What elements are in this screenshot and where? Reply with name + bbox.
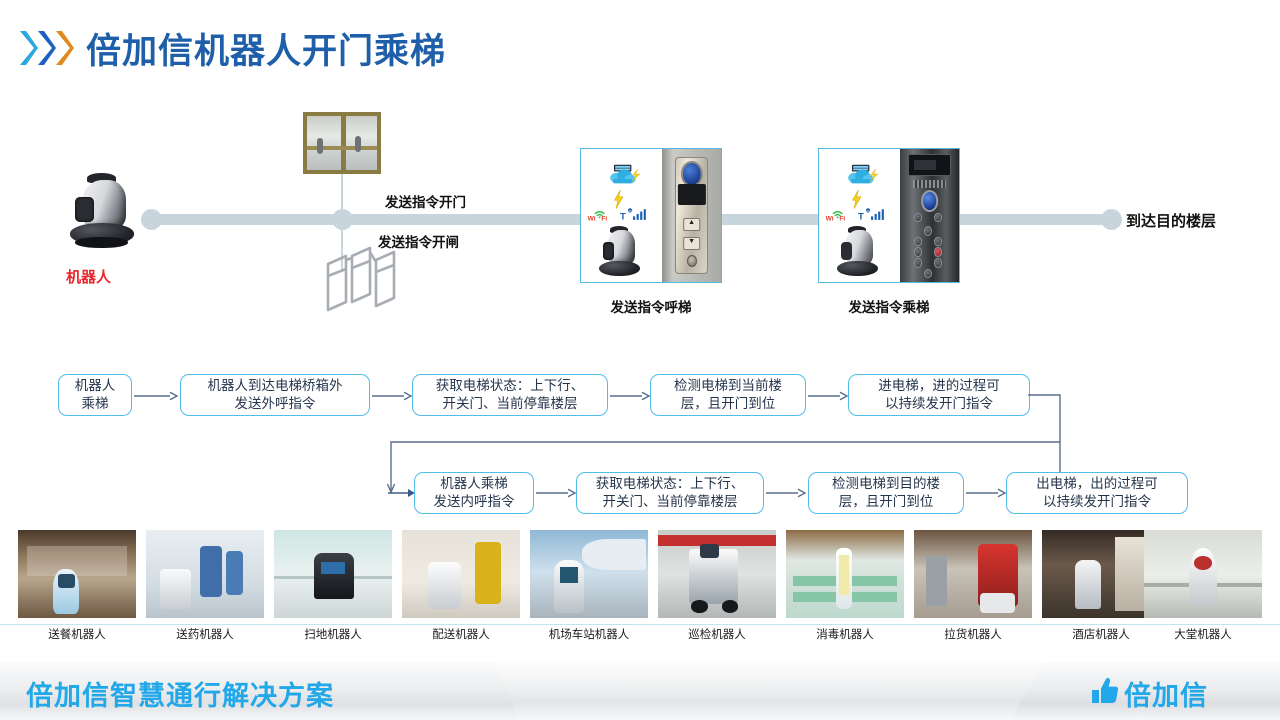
footer-title: 倍加信智慧通行解决方案 — [26, 674, 334, 713]
glass-door-photo — [303, 112, 381, 174]
gallery-label-2: 送药机器人 — [146, 626, 264, 642]
flow-arrow-r1-4 — [808, 390, 848, 402]
mini-robot-icon — [832, 222, 886, 281]
timeline-end-node — [1101, 209, 1122, 230]
svg-text:Fi: Fi — [840, 215, 846, 222]
chevron-icon-2 — [36, 28, 56, 68]
gallery-label-4: 配送机器人 — [402, 626, 520, 642]
flow-row1-box-4: 检测电梯到当前楼 层，且开门到位 — [650, 374, 806, 416]
gallery-thumb-1 — [18, 530, 136, 618]
car-operating-panel-photo — [900, 149, 959, 282]
flow-arrow-r2-3 — [966, 487, 1006, 499]
car-call-caption: 发送指令乘梯 — [818, 296, 960, 316]
flow-arrow-r1-3 — [610, 390, 650, 402]
gallery-divider — [0, 624, 1280, 625]
flow-row1-box-1: 机器人 乘梯 — [58, 374, 132, 416]
flow-row1-box-3: 获取电梯状态：上下行、 开关门、当前停靠楼层 — [412, 374, 608, 416]
gallery-label-1: 送餐机器人 — [18, 626, 136, 642]
flow-arrow-r1-1 — [134, 390, 178, 402]
flow-arrow-r2-1 — [536, 487, 576, 499]
svg-text:T: T — [858, 211, 864, 222]
gallery-label-5: 机场车站机器人 — [530, 626, 648, 642]
chevron-icon-3 — [54, 28, 74, 68]
gallery-label-8: 拉货机器人 — [914, 626, 1032, 642]
robot-gallery: 送餐机器人 送药机器人 扫地机器人 配送机器人 — [0, 530, 1280, 625]
hall-call-left-pane: Wi Fi T 4G — [581, 149, 662, 282]
cloud-server-icon — [604, 158, 641, 193]
slide-header: 倍加信机器人开门乘梯 — [0, 0, 1280, 96]
flow-row2-box-4: 出电梯，出的过程可 以持续发开门指令 — [1006, 472, 1188, 514]
cloud-server-icon — [842, 158, 879, 193]
svg-text:T: T — [620, 211, 626, 222]
chevron-logo-icon — [18, 28, 80, 68]
gallery-thumb-3 — [274, 530, 392, 618]
gallery-thumb-6 — [658, 530, 776, 618]
flow-row2-box-1: 机器人乘梯 发送内呼指令 — [414, 472, 534, 514]
car-call-card: Wi Fi T 4G — [818, 148, 960, 283]
flow-arrow-into-row2 — [388, 487, 416, 499]
svg-text:Wi: Wi — [588, 215, 596, 222]
svg-text:Fi: Fi — [602, 215, 608, 222]
svg-text:4G: 4G — [628, 209, 633, 213]
gallery-label-7: 消毒机器人 — [786, 626, 904, 642]
brand-lockup: 倍加信 — [1090, 674, 1208, 713]
gallery-thumb-7 — [786, 530, 904, 618]
robot-photo — [62, 168, 146, 252]
slide-footer: 倍加信智慧通行解决方案 倍加信 — [0, 662, 1280, 720]
gallery-thumb-4 — [402, 530, 520, 618]
svg-text:4G: 4G — [866, 209, 871, 213]
svg-text:Wi: Wi — [826, 215, 834, 222]
gate-command-label: 发送指令开闸 — [378, 231, 459, 251]
flow-row1-box-5: 进电梯，进的过程可 以持续发开门指令 — [848, 374, 1030, 416]
arrive-floor-label: 到达目的楼层 — [1126, 210, 1216, 231]
gallery-thumb-2 — [146, 530, 264, 618]
gallery-thumb-9 — [1042, 530, 1160, 618]
gallery-thumb-5 — [530, 530, 648, 618]
hall-call-card: Wi Fi T 4G — [580, 148, 722, 283]
page-title: 倍加信机器人开门乘梯 — [86, 23, 446, 74]
gallery-thumb-8 — [914, 530, 1032, 618]
brand-name: 倍加信 — [1124, 674, 1208, 713]
door-command-label: 发送指令开门 — [385, 191, 466, 211]
flow-arrow-r2-2 — [766, 487, 806, 499]
flow-arrow-r1-2 — [372, 390, 412, 402]
chevron-icon-1 — [18, 28, 38, 68]
mini-robot-icon — [594, 222, 648, 281]
gallery-label-3: 扫地机器人 — [274, 626, 392, 642]
gallery-thumb-10 — [1144, 530, 1262, 618]
car-call-left-pane: Wi Fi T 4G — [819, 149, 900, 282]
hall-call-caption: 发送指令呼梯 — [580, 296, 722, 316]
gallery-label-6: 巡检机器人 — [658, 626, 776, 642]
thumbs-up-icon — [1090, 677, 1120, 710]
timeline-node-door — [332, 209, 353, 230]
flow-row2-box-3: 检测电梯到目的楼 层，且开门到位 — [808, 472, 964, 514]
slide-root: 倍加信机器人开门乘梯 到达目的楼层 机器人 — [0, 0, 1280, 720]
gallery-label-9: 酒店机器人 — [1042, 626, 1160, 642]
hall-call-panel-photo: ▲ ▼ — [662, 149, 721, 282]
gallery-label-10: 大堂机器人 — [1144, 626, 1262, 642]
flow-row2-box-2: 获取电梯状态：上下行、 开关门、当前停靠楼层 — [576, 472, 764, 514]
robot-caption: 机器人 — [66, 266, 111, 287]
flow-row1-box-2: 机器人到达电梯桥箱外 发送外呼指令 — [180, 374, 370, 416]
